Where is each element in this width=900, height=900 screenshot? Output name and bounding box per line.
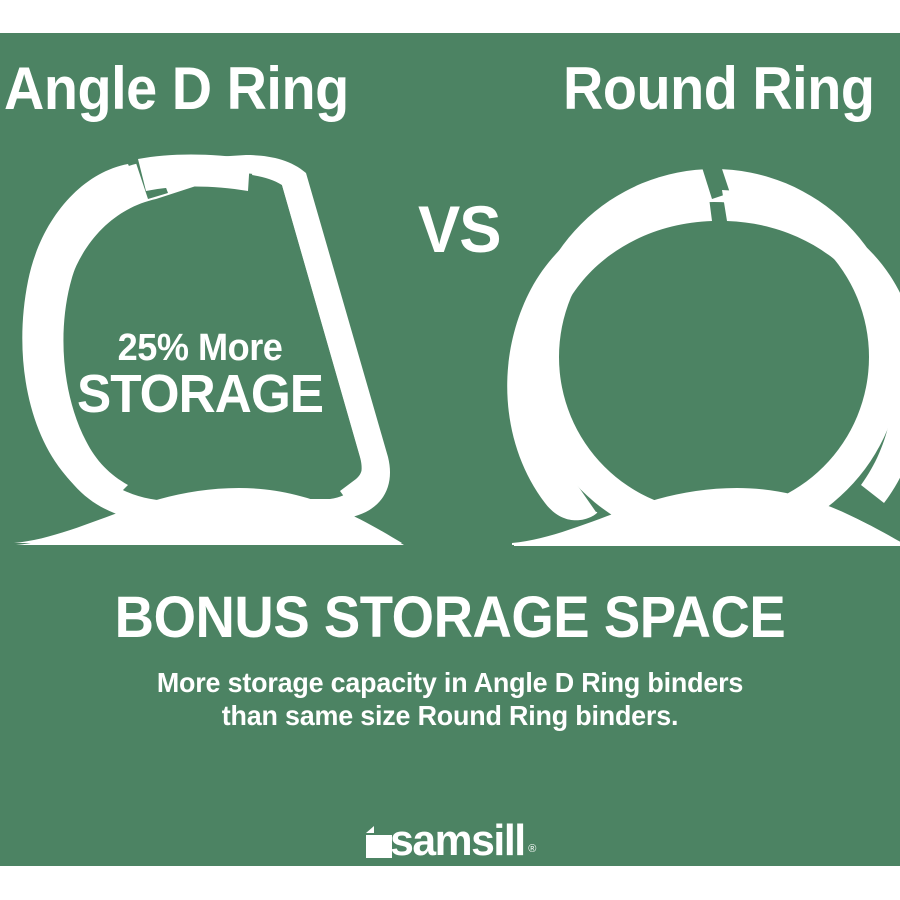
footer-subcopy-line-2: than same size Round Ring binders. (18, 699, 882, 732)
vs-label: VS (418, 196, 501, 262)
storage-badge: 25% More STORAGE (0, 328, 400, 420)
footer-subcopy-line-1: More storage capacity in Angle D Ring bi… (18, 666, 882, 699)
column-title-round-ring: Round Ring (563, 59, 874, 119)
storage-badge-percent: 25% More (10, 328, 390, 368)
storage-badge-word: STORAGE (10, 368, 390, 420)
angle-d-ring-band (0, 33, 900, 866)
footer-subcopy: More storage capacity in Angle D Ring bi… (18, 666, 882, 732)
ring-comparison-illustration (0, 33, 900, 866)
round-ring-shape-right (722, 190, 900, 503)
ring-comparison-illustration-detail (0, 33, 900, 866)
angle-d-ring-top-bar (138, 155, 250, 192)
round-ring-band (0, 33, 900, 866)
footer-headline: BONUS STORAGE SPACE (27, 588, 873, 648)
column-title-angle-d-ring: Angle D Ring (4, 59, 349, 119)
green-panel: Angle D Ring Round Ring (0, 33, 900, 866)
folded-corner-square-icon (364, 825, 394, 859)
angle-d-ring-base (14, 488, 402, 543)
round-ring-diagram (507, 190, 900, 545)
round-ring-base-dome (514, 490, 900, 546)
registered-trademark-symbol: ® (528, 844, 536, 855)
infographic-canvas: Angle D Ring Round Ring (0, 0, 900, 900)
round-ring-shape (507, 190, 712, 520)
brand-logo: samsill ® (0, 821, 900, 861)
round-ring-base (512, 488, 900, 545)
angle-d-ring-base-dome (16, 490, 404, 545)
brand-wordmark: samsill (390, 821, 525, 861)
